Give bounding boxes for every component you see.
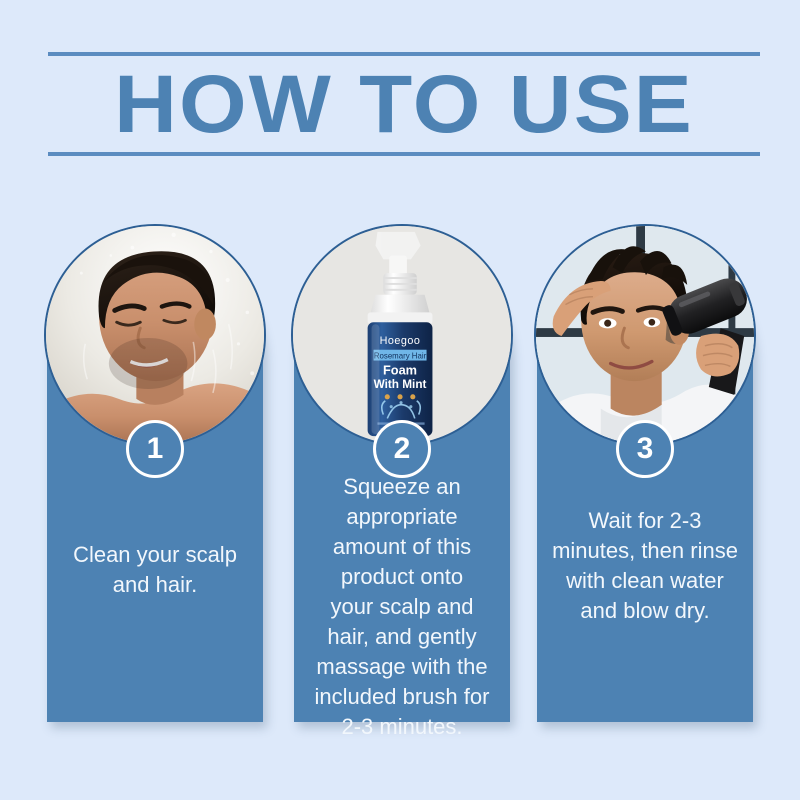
- page-header: HOW TO USE: [48, 52, 760, 156]
- step-2-text: Squeeze an appropriate amount of this pr…: [302, 472, 502, 742]
- step-card-1: 1 Clean your scalp and hair.: [47, 248, 263, 722]
- step-3-text: Wait for 2-3 minutes, then rinse with cl…: [545, 506, 745, 626]
- step-1-photo: [44, 224, 266, 446]
- step-2-photo: Hoegoo Rosemary Hair Foam With Mint: [291, 224, 513, 446]
- step-1-number-badge: 1: [126, 420, 184, 478]
- step-3-number-badge: 3: [616, 420, 674, 478]
- step-card-3: 3 Wait for 2-3 minutes, then rinse with …: [537, 248, 753, 722]
- page-title: HOW TO USE: [27, 62, 782, 148]
- svg-text:Foam: Foam: [383, 362, 417, 377]
- step-card-2: Hoegoo Rosemary Hair Foam With Mint: [294, 248, 510, 722]
- step-1-text: Clean your scalp and hair.: [55, 540, 255, 600]
- title-rule-top: [48, 52, 760, 56]
- svg-text:With Mint: With Mint: [374, 378, 427, 391]
- step-3-photo: [534, 224, 756, 446]
- steps-container: 1 Clean your scalp and hair.: [47, 248, 753, 728]
- svg-text:Hoegoo: Hoegoo: [380, 335, 421, 347]
- step-2-number-badge: 2: [373, 420, 431, 478]
- title-rule-bottom: [48, 152, 760, 156]
- svg-text:Rosemary Hair: Rosemary Hair: [374, 352, 427, 361]
